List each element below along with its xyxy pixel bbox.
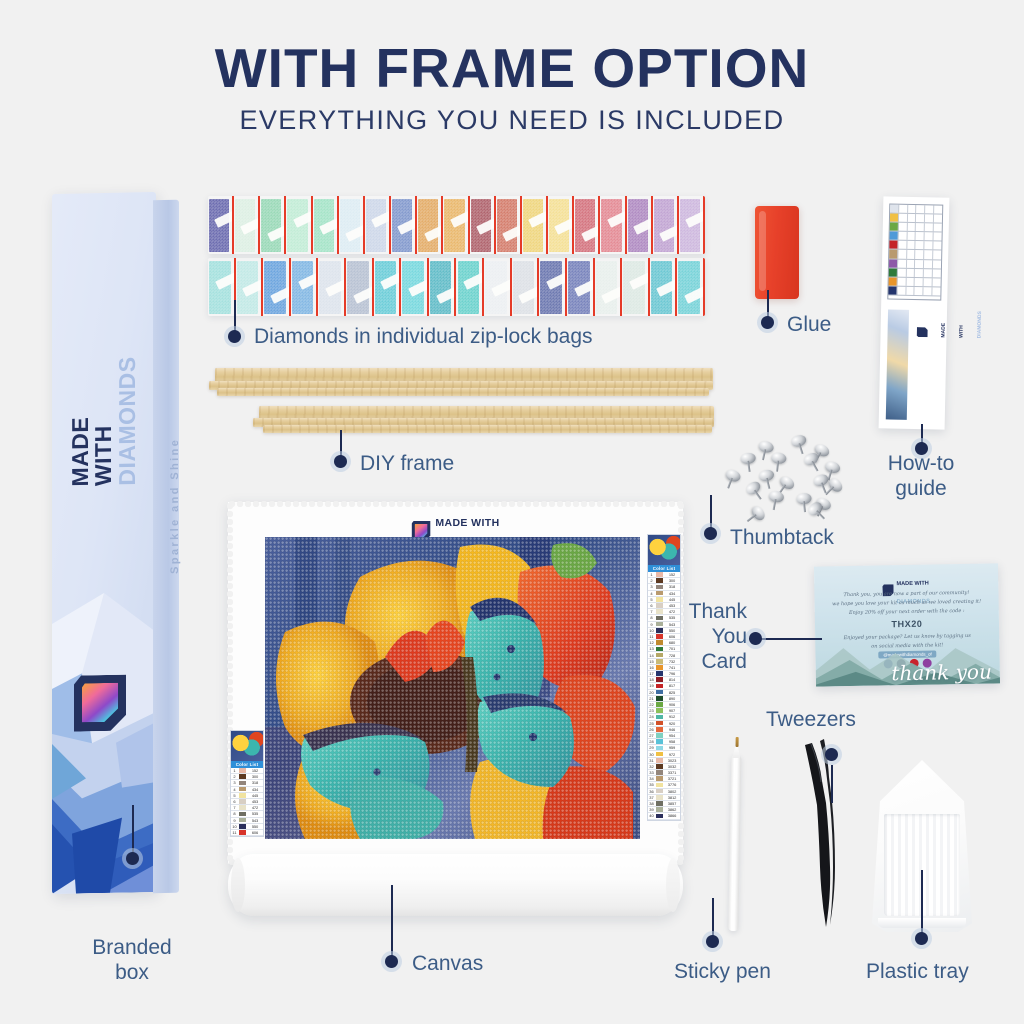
leader-line-sticky-pen bbox=[712, 898, 714, 938]
ziplock-bag bbox=[236, 258, 264, 316]
callout-dot-thumbtack bbox=[704, 527, 717, 540]
canvas-logo-made: MADE WITH bbox=[435, 517, 499, 529]
ziplock-bag bbox=[548, 196, 574, 254]
glue-tube bbox=[755, 206, 799, 299]
ziplock-bag-row-bottom bbox=[208, 258, 705, 316]
ziplock-bag bbox=[522, 196, 548, 254]
callout-glue: Glue bbox=[787, 313, 831, 338]
diamond-gradient-icon bbox=[917, 327, 928, 337]
leader-line-tray bbox=[921, 870, 923, 934]
callout-tweezers: Tweezers bbox=[766, 708, 856, 733]
branded-box: MADE WITH DIAMONDS Sparkle and Shine bbox=[52, 193, 178, 893]
color-list-title: Color List bbox=[648, 565, 680, 572]
guide-color-table bbox=[887, 203, 943, 300]
callout-bags: Diamonds in individual zip-lock bags bbox=[254, 325, 593, 350]
guide-logo: MADE WITH DIAMONDS bbox=[913, 309, 986, 339]
ziplock-bag bbox=[291, 258, 319, 316]
page-title: WITH FRAME OPTION bbox=[0, 36, 1024, 100]
ziplock-bag bbox=[627, 196, 653, 254]
callout-dot-tweezers bbox=[825, 748, 838, 761]
callout-dot-sticky-pen bbox=[706, 935, 719, 948]
box-tagline: Sparkle and Shine bbox=[169, 406, 181, 606]
callout-dot-branded-box bbox=[126, 852, 139, 865]
tweezers bbox=[800, 737, 840, 929]
ziplock-bag bbox=[512, 258, 540, 316]
ziplock-bag bbox=[234, 196, 260, 254]
ziplock-bag bbox=[365, 196, 391, 254]
canvas-artwork bbox=[265, 537, 640, 839]
ziplock-bag bbox=[401, 258, 429, 316]
leader-line-tweezers bbox=[831, 765, 833, 803]
artwork-thumbnail bbox=[648, 535, 680, 565]
callout-thumbtack: Thumbtack bbox=[730, 526, 834, 551]
canvas-rolled-edge bbox=[228, 854, 683, 916]
leader-line-branded-box bbox=[132, 805, 134, 855]
callout-dot-thank-you bbox=[749, 632, 762, 645]
ziplock-bag bbox=[208, 258, 236, 316]
callout-dot-glue bbox=[761, 316, 774, 329]
ziplock-bag bbox=[650, 258, 678, 316]
ziplock-bag bbox=[318, 258, 346, 316]
canvas-with-artwork: MADE WITH DIAMONDS bbox=[228, 502, 683, 922]
thank-you-script: thank you bbox=[891, 664, 992, 682]
thumbtacks-pile bbox=[714, 438, 854, 523]
ziplock-bag bbox=[595, 258, 623, 316]
ziplock-bag bbox=[339, 196, 365, 254]
ziplock-bag bbox=[443, 196, 469, 254]
ziplock-bag bbox=[260, 196, 286, 254]
thank-you-promo-code: THX20 bbox=[815, 617, 999, 630]
ziplock-bag bbox=[622, 258, 650, 316]
ziplock-bag bbox=[539, 258, 567, 316]
box-brand-diamonds: DIAMONDS bbox=[115, 365, 139, 485]
ziplock-bag bbox=[263, 258, 291, 316]
ziplock-bag bbox=[484, 258, 512, 316]
leader-line-thumbtack bbox=[710, 495, 712, 531]
callout-diy-frame: DIY frame bbox=[360, 452, 454, 477]
leader-line-thank-you bbox=[760, 638, 822, 640]
ziplock-bag bbox=[496, 196, 522, 254]
thank-you-line3: Enjoy 20% off your next order with the c… bbox=[815, 607, 999, 616]
leader-line-canvas bbox=[391, 885, 393, 957]
callout-dot-canvas bbox=[385, 955, 398, 968]
pen-tip-icon bbox=[735, 737, 738, 747]
callout-branded-box: Branded box bbox=[62, 936, 202, 986]
callout-dot-tray bbox=[915, 932, 928, 945]
callout-sticky-pen: Sticky pen bbox=[674, 960, 771, 985]
how-to-guide: MADE WITH DIAMONDS bbox=[879, 196, 950, 429]
artwork-thumbnail bbox=[231, 731, 263, 761]
ziplock-bag bbox=[429, 258, 457, 316]
callout-dot-diy-frame bbox=[334, 455, 347, 468]
sticky-pen bbox=[725, 737, 744, 931]
callout-dot-bags bbox=[228, 330, 241, 343]
ziplock-bag-row-top bbox=[208, 196, 705, 254]
guide-logo-made: MADE WITH bbox=[940, 323, 964, 338]
thank-you-card: MADE WITH DIAMONDS Thank you, you are no… bbox=[814, 563, 1000, 686]
ziplock-bag bbox=[677, 258, 705, 316]
color-list-title: Color List bbox=[231, 761, 263, 768]
ziplock-bag bbox=[653, 196, 679, 254]
callout-howto: How-to guide bbox=[855, 452, 987, 502]
ziplock-bag bbox=[417, 196, 443, 254]
ziplock-bag bbox=[374, 258, 402, 316]
color-list-right: Color List115223003318443454456453747285… bbox=[647, 534, 681, 821]
box-polygon-pattern bbox=[52, 592, 156, 894]
ziplock-bag bbox=[391, 196, 417, 254]
guide-cover-image bbox=[886, 309, 909, 419]
ziplock-bag bbox=[679, 196, 705, 254]
diy-frame bbox=[207, 368, 722, 453]
guide-logo-diamonds: DIAMONDS bbox=[976, 311, 983, 338]
color-list-row: 11606 bbox=[231, 830, 263, 836]
page-subtitle: EVERYTHING YOU NEED IS INCLUDED bbox=[0, 105, 1024, 136]
thank-you-logo-made: MADE WITH bbox=[896, 581, 928, 588]
ziplock-bag bbox=[470, 196, 496, 254]
ziplock-bag bbox=[286, 196, 312, 254]
box-branding: MADE WITH DIAMONDS bbox=[69, 365, 139, 486]
box-front-panel: MADE WITH DIAMONDS bbox=[52, 192, 156, 894]
ziplock-bag bbox=[208, 196, 234, 254]
ziplock-bag bbox=[457, 258, 485, 316]
ziplock-bag bbox=[346, 258, 374, 316]
color-list-row: 403866 bbox=[648, 813, 680, 819]
leader-line-bags bbox=[234, 300, 236, 332]
box-brand-made: MADE WITH bbox=[69, 366, 115, 487]
ziplock-bag bbox=[313, 196, 339, 254]
infographic-root: WITH FRAME OPTION EVERYTHING YOU NEED IS… bbox=[0, 0, 1024, 1024]
callout-canvas: Canvas bbox=[412, 952, 483, 977]
ziplock-bag bbox=[567, 258, 595, 316]
ziplock-bag bbox=[600, 196, 626, 254]
box-side-panel: Sparkle and Shine bbox=[153, 200, 179, 893]
color-list-left: Color List115223003318443454456453747285… bbox=[230, 730, 264, 837]
canvas-sheet: MADE WITH DIAMONDS bbox=[228, 502, 683, 864]
callout-plastic-tray: Plastic tray bbox=[866, 960, 969, 985]
ziplock-bag bbox=[574, 196, 600, 254]
